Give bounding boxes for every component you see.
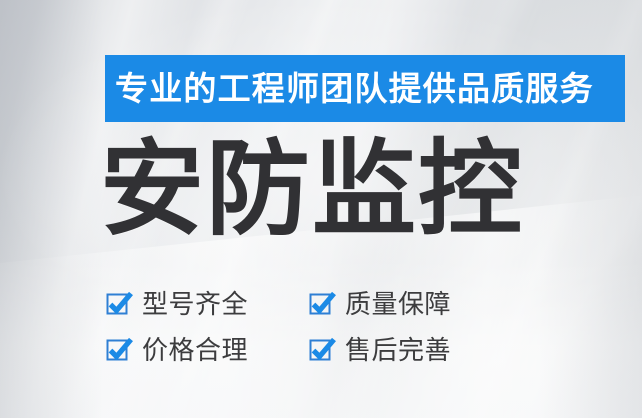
feature-label: 质量保障 [345, 291, 451, 317]
promo-poster: 专业的工程师团队提供品质服务 安防监控 型号齐全 [0, 0, 642, 418]
feature-label: 售后完善 [345, 337, 451, 363]
feature-item-2: 质量保障 [310, 281, 513, 327]
feature-item-4: 售后完善 [310, 327, 513, 373]
feature-label: 价格合理 [142, 337, 248, 363]
poster-content: 专业的工程师团队提供品质服务 安防监控 型号齐全 [0, 0, 642, 418]
checkbox-checked-icon [107, 338, 131, 362]
feature-item-3: 价格合理 [107, 327, 310, 373]
feature-item-1: 型号齐全 [107, 281, 310, 327]
feature-list: 型号齐全 质量保障 价格合理 [107, 281, 527, 373]
checkbox-checked-icon [310, 292, 334, 316]
feature-label: 型号齐全 [142, 291, 248, 317]
checkbox-checked-icon [107, 292, 131, 316]
headline-text: 专业的工程师团队提供品质服务 [105, 72, 594, 105]
headline-banner: 专业的工程师团队提供品质服务 [105, 55, 625, 122]
checkbox-checked-icon [310, 338, 334, 362]
page-title: 安防监控 [100, 134, 524, 246]
